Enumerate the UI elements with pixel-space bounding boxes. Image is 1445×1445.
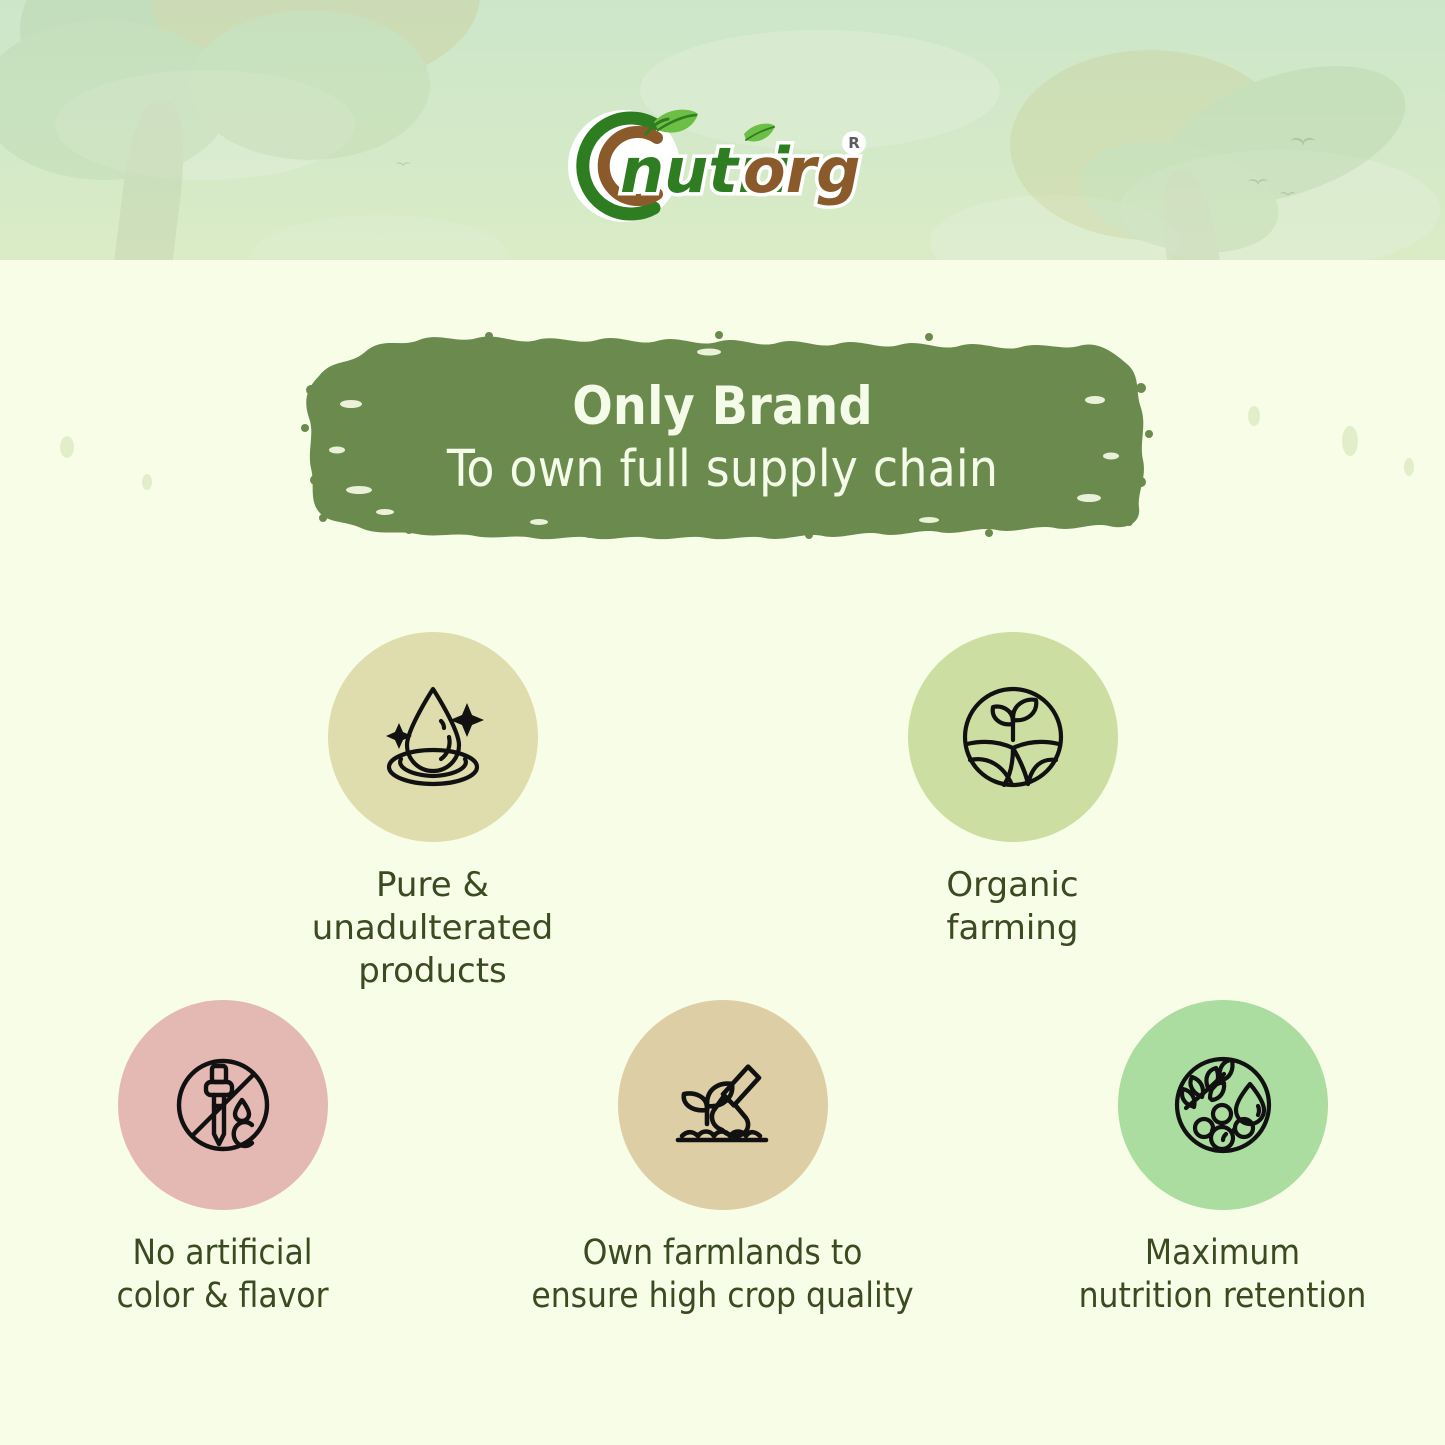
water-droplet-sparkle-icon	[371, 675, 495, 799]
bird-icon	[395, 162, 411, 169]
sprout-field-circle-icon	[954, 678, 1072, 796]
feature-organic-farming: Organic farming	[863, 632, 1163, 992]
feature-pure-unadulterated: Pure & unadulterated products	[283, 632, 583, 992]
feature-row-bottom: No artificial color & flavor	[0, 1000, 1445, 1319]
feature-icon-circle	[618, 1000, 828, 1210]
bird-icon	[1290, 138, 1316, 150]
feature-label: Organic farming	[946, 864, 1078, 950]
feature-maximum-nutrition-retention: Maximum nutrition retention	[1073, 1000, 1373, 1319]
feature-label: No artificial color & flavor	[116, 1232, 328, 1319]
feature-label: Own farmlands to ensure high crop qualit…	[531, 1232, 913, 1319]
registered-trademark-mark: R	[848, 134, 860, 152]
feature-icon-circle	[908, 632, 1118, 842]
headline-banner: Only Brand To own full supply chain	[289, 330, 1157, 545]
no-dropper-chemical-icon	[164, 1046, 282, 1164]
banner-subheadline: To own full supply chain	[447, 442, 998, 497]
feature-own-farmlands: Own farmlands to ensure high crop qualit…	[523, 1000, 923, 1319]
bird-icon	[1248, 179, 1269, 189]
plant-shovel-soil-icon	[662, 1044, 784, 1166]
leaf-drop-molecule-icon	[1164, 1046, 1282, 1164]
feature-icon-circle	[118, 1000, 328, 1210]
feature-row-top: Pure & unadulterated products	[0, 632, 1445, 992]
banner-headline: Only Brand	[572, 378, 873, 435]
nutriorg-logo: nutri org R	[558, 108, 888, 228]
feature-icon-circle	[328, 632, 538, 842]
feature-label: Maximum nutrition retention	[1079, 1232, 1367, 1319]
feature-label: Pure & unadulterated products	[283, 864, 583, 992]
bird-icon	[1280, 192, 1297, 200]
feature-icon-circle	[1118, 1000, 1328, 1210]
feature-no-artificial-color-flavor: No artificial color & flavor	[73, 1000, 373, 1319]
promotional-poster: nutri org R	[0, 0, 1445, 1445]
